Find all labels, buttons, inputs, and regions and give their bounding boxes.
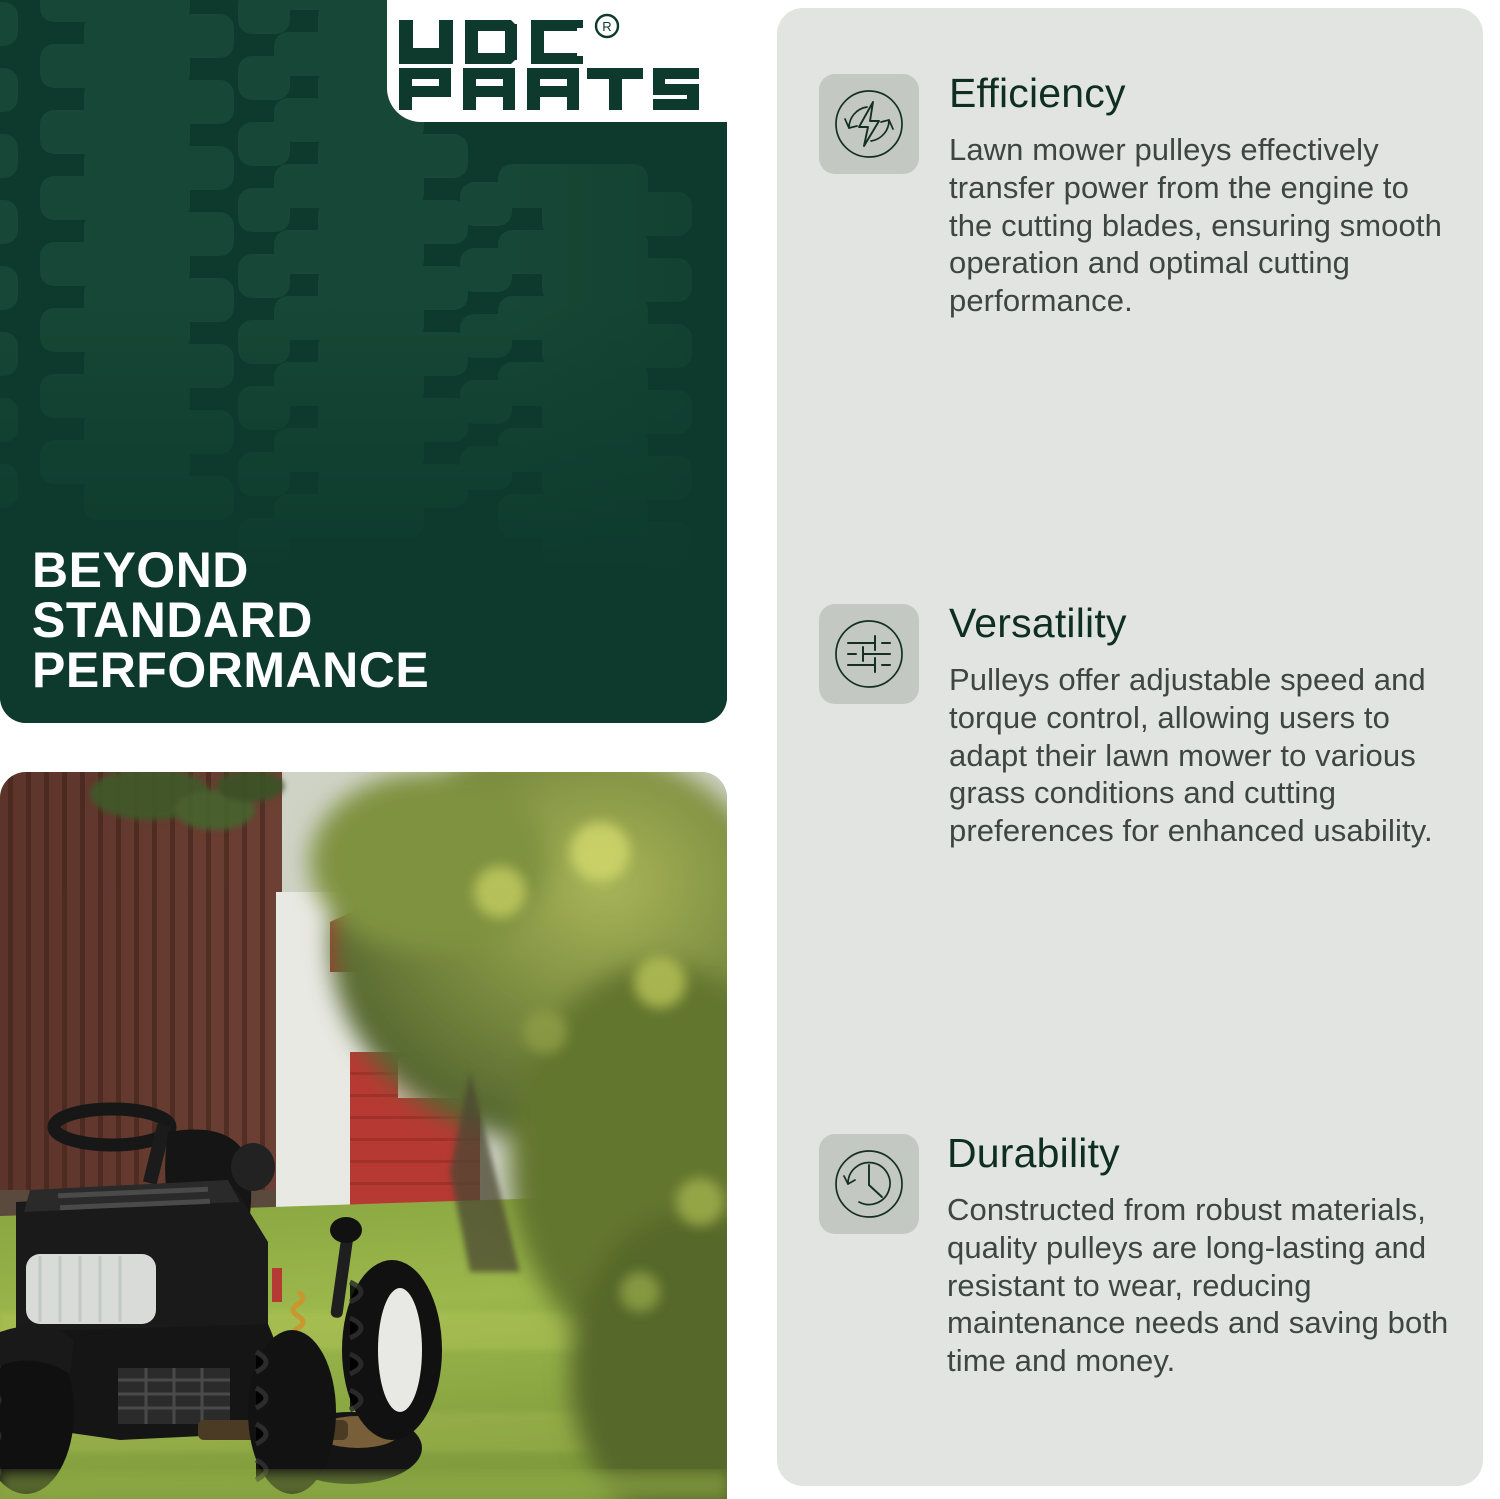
feature-description: Constructed from robust materials, quali… [947, 1191, 1469, 1380]
features-panel: Efficiency Lawn mower pulleys effectivel… [777, 8, 1483, 1486]
clock-history-icon [819, 1134, 919, 1234]
headline-line-2: STANDARD [32, 595, 429, 645]
feature-title: Durability [947, 1132, 1449, 1175]
sliders-settings-icon [819, 604, 919, 704]
hero-panel: R [0, 0, 727, 723]
feature-item-efficiency: Efficiency Lawn mower pulleys effectivel… [819, 70, 1449, 320]
svg-text:R: R [602, 19, 611, 34]
infographic-page: R [0, 0, 1500, 1499]
feature-item-versatility: Versatility Pulleys offer adjustable spe… [819, 600, 1449, 850]
feature-description: Lawn mower pulleys effectively transfer … [949, 131, 1461, 320]
headline-line-1: BEYOND [32, 545, 429, 595]
feature-title: Efficiency [949, 72, 1449, 115]
udc-parts-wordmark-icon[interactable]: R [395, 12, 705, 112]
energy-efficiency-icon [819, 74, 919, 174]
feature-description: Pulleys offer adjustable speed and torqu… [949, 661, 1461, 850]
left-column: R [0, 0, 727, 1499]
feature-title: Versatility [949, 602, 1449, 645]
feature-body: Durability Constructed from robust mater… [947, 1130, 1449, 1380]
headline-line-3: PERFORMANCE [32, 645, 429, 695]
feature-item-durability: Durability Constructed from robust mater… [819, 1130, 1449, 1380]
page-title: BEYOND STANDARD PERFORMANCE [32, 545, 429, 695]
lawn-mower-photo [0, 772, 727, 1499]
feature-body: Versatility Pulleys offer adjustable spe… [949, 600, 1449, 850]
feature-body: Efficiency Lawn mower pulleys effectivel… [949, 70, 1449, 320]
